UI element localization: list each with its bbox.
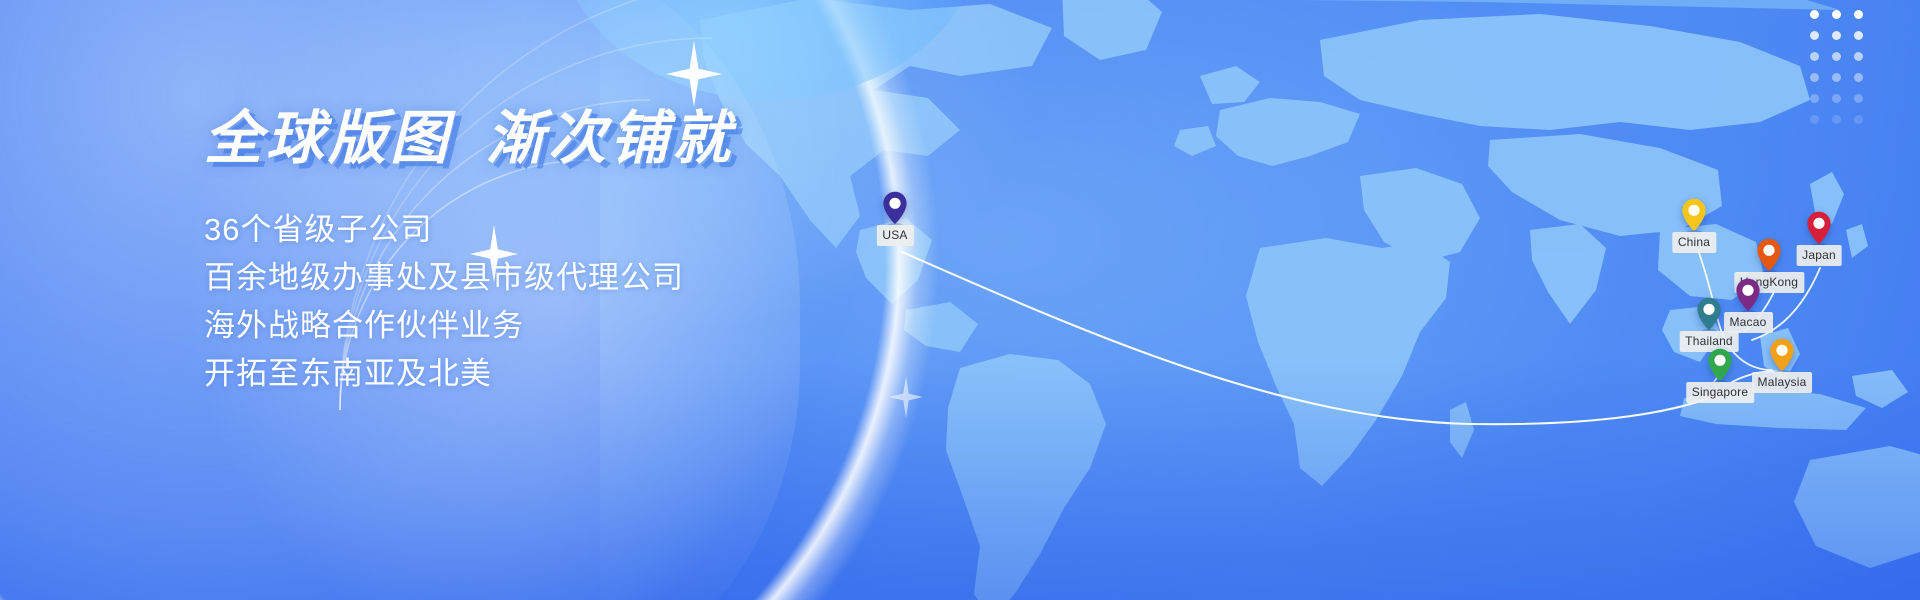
decorative-dot [1810,94,1819,103]
decorative-dot [1832,52,1841,61]
decorative-dot [1854,52,1863,61]
headline-part-2: 渐次铺就 [486,106,734,171]
global-map-banner: 全球版图渐次铺就 36个省级子公司 百余地级办事处及县市级代理公司 海外战略合作… [0,0,1920,600]
map-marker-label: Japan [1796,245,1842,266]
decorative-dot [1832,94,1841,103]
map-marker-label: China [1672,232,1716,253]
decorative-dot [1832,10,1841,19]
decorative-dot [1854,31,1863,40]
map-pin-icon [883,191,908,225]
map-marker-singapore[interactable]: Singapore [1708,348,1733,382]
decorative-dot [1810,31,1819,40]
map-marker-label: Malaysia [1752,372,1813,393]
map-pin-icon [1757,238,1782,272]
map-pin-icon [1682,198,1707,232]
map-marker-macao[interactable]: Macao [1736,278,1761,312]
decorative-dot [1854,73,1863,82]
map-marker-malaysia[interactable]: Malaysia [1770,338,1795,372]
decorative-dot [1854,115,1863,124]
subtitle-line: 百余地级办事处及县市级代理公司 [204,254,924,302]
map-marker-label: USA [876,225,913,246]
map-pin-icon [1736,278,1761,312]
decorative-dot [1854,10,1863,19]
map-pin-icon [1807,211,1832,245]
headline-part-1: 全球版图 [204,106,452,171]
map-marker-usa[interactable]: USA [883,191,908,225]
map-marker-label: Macao [1723,312,1772,333]
decorative-dot [1832,73,1841,82]
subtitle-line: 开拓至东南亚及北美 [204,350,924,398]
headline: 全球版图渐次铺就 [204,110,924,168]
subtitle-line: 36个省级子公司 [204,206,924,254]
decorative-dot [1854,94,1863,103]
decorative-dot [1810,115,1819,124]
map-pin-icon [1708,348,1733,382]
decorative-dot [1810,52,1819,61]
decorative-dot [1832,115,1841,124]
map-marker-hongkong[interactable]: HongKong [1757,238,1782,272]
map-pin-icon [1697,297,1722,331]
decorative-dot [1810,73,1819,82]
dot-grid-decoration [1810,10,1876,136]
map-marker-label: Singapore [1686,382,1755,403]
map-marker-thailand[interactable]: Thailand [1697,297,1722,331]
subtitle-line: 海外战略合作伙伴业务 [204,302,924,350]
decorative-dot [1832,31,1841,40]
map-marker-china[interactable]: China [1682,198,1707,232]
subtitle-list: 36个省级子公司 百余地级办事处及县市级代理公司 海外战略合作伙伴业务 开拓至东… [204,206,924,398]
map-marker-japan[interactable]: Japan [1807,211,1832,245]
map-pin-icon [1770,338,1795,372]
copy-block: 全球版图渐次铺就 36个省级子公司 百余地级办事处及县市级代理公司 海外战略合作… [204,110,924,398]
decorative-dot [1810,10,1819,19]
sparkle-icon [666,41,722,107]
